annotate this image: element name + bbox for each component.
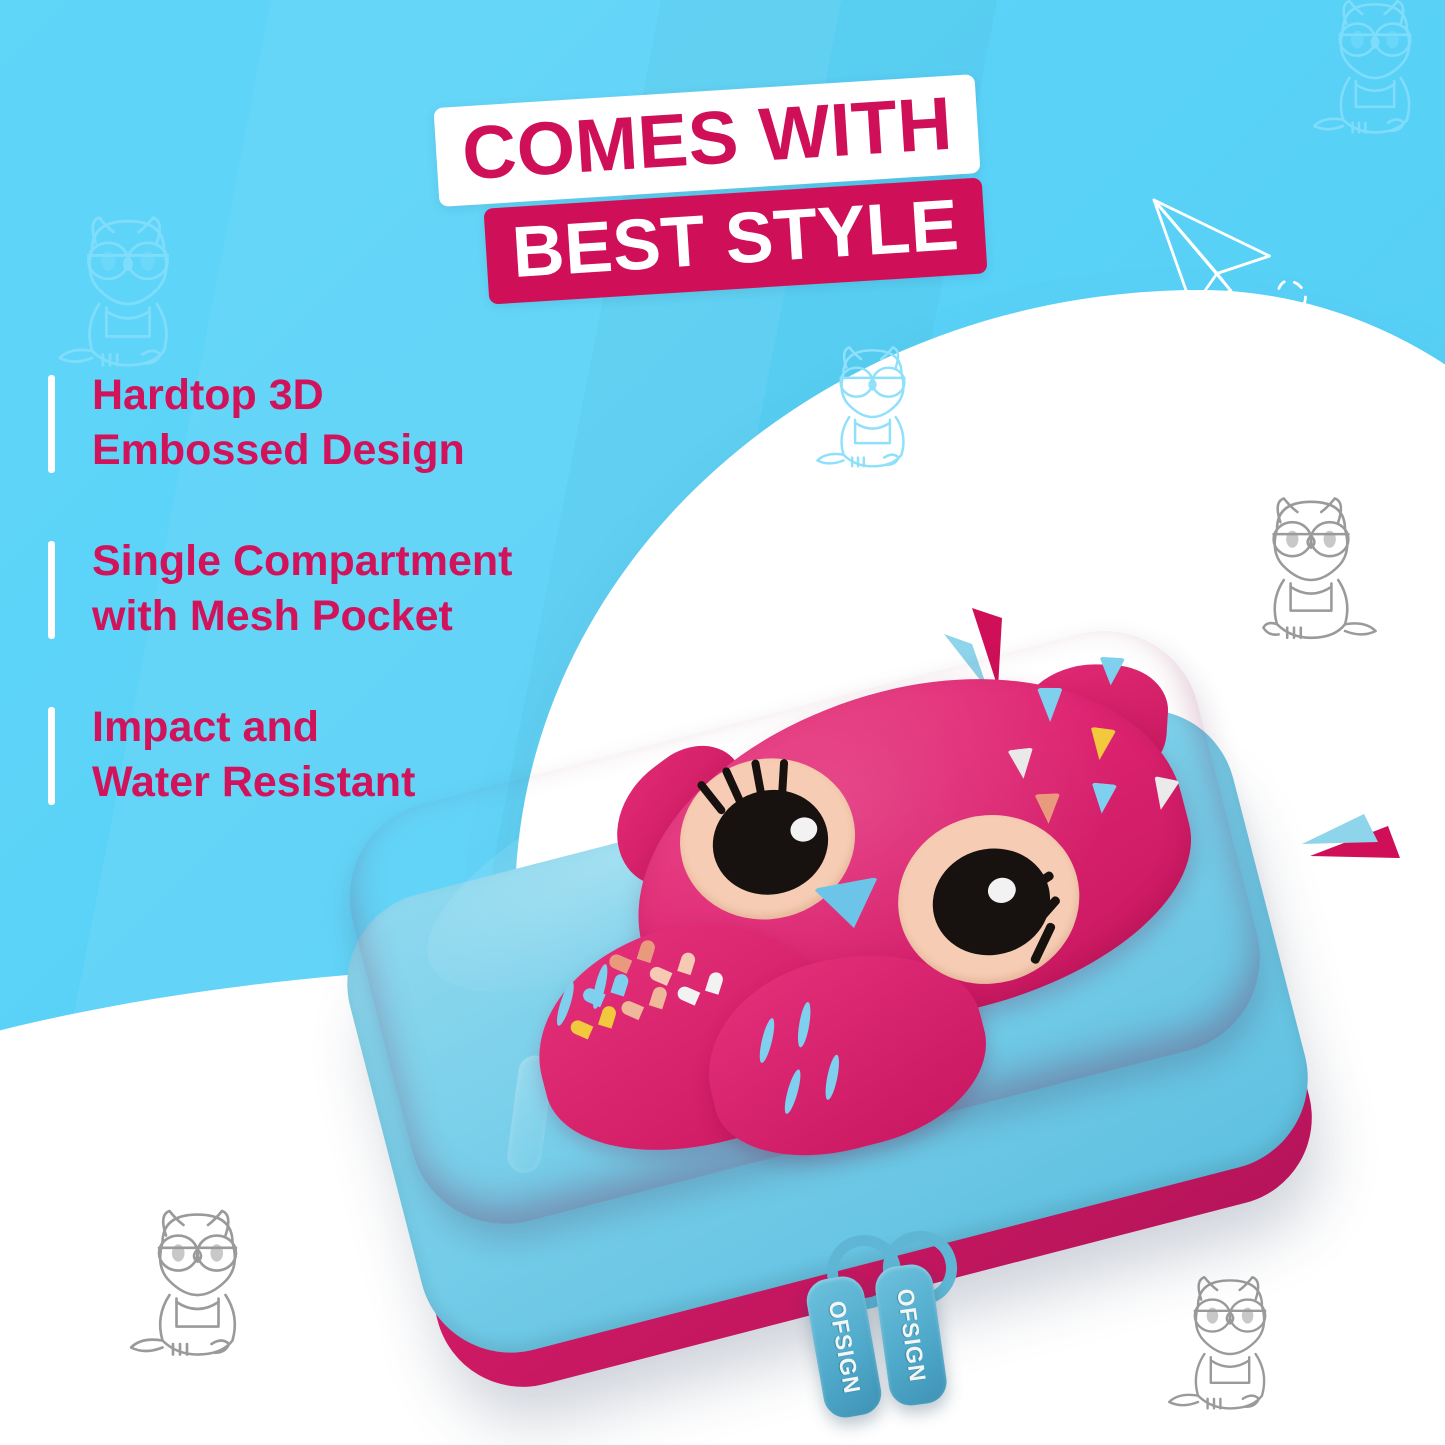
owl-watermark-white-blob [1226, 478, 1396, 648]
owl-watermark-center [800, 330, 945, 475]
feature-bar [48, 541, 55, 639]
owl-teardrop-accent [1089, 782, 1118, 814]
feature-text: Hardtop 3D Embossed Design [92, 368, 668, 478]
owl-teardrop-accent [1034, 793, 1061, 824]
owl-watermark-top-right [1295, 0, 1445, 142]
owl-teardrop-accent [1037, 688, 1063, 722]
owl-watermark-bottom-left [110, 1190, 285, 1365]
feature-bar [48, 707, 55, 805]
zipper-pull-brand-label: OFSIGN [823, 1298, 866, 1395]
promo-banner: COMES WITH BEST STYLE Hardtop 3D Embosse… [0, 0, 1445, 1445]
owl-teardrop-accent [1086, 727, 1116, 762]
owl-teardrop-accent [1007, 747, 1036, 780]
feature-hardtop: Hardtop 3D Embossed Design [48, 368, 668, 478]
zipper-pull-brand-label: OFSIGN [891, 1286, 931, 1383]
product-image: .h-w:before,.h-w:after{background:#f2f2f… [355, 665, 1355, 1425]
feature-compartment: Single Compartment with Mesh Pocket [48, 534, 668, 644]
feature-bar [48, 375, 55, 473]
owl-watermark-top-left [38, 196, 218, 376]
feature-text: Single Compartment with Mesh Pocket [92, 534, 668, 644]
headline: COMES WITH BEST STYLE [430, 85, 1020, 315]
paper-plane-top-right [1140, 180, 1350, 360]
owl-teardrop-accent [1098, 657, 1126, 687]
